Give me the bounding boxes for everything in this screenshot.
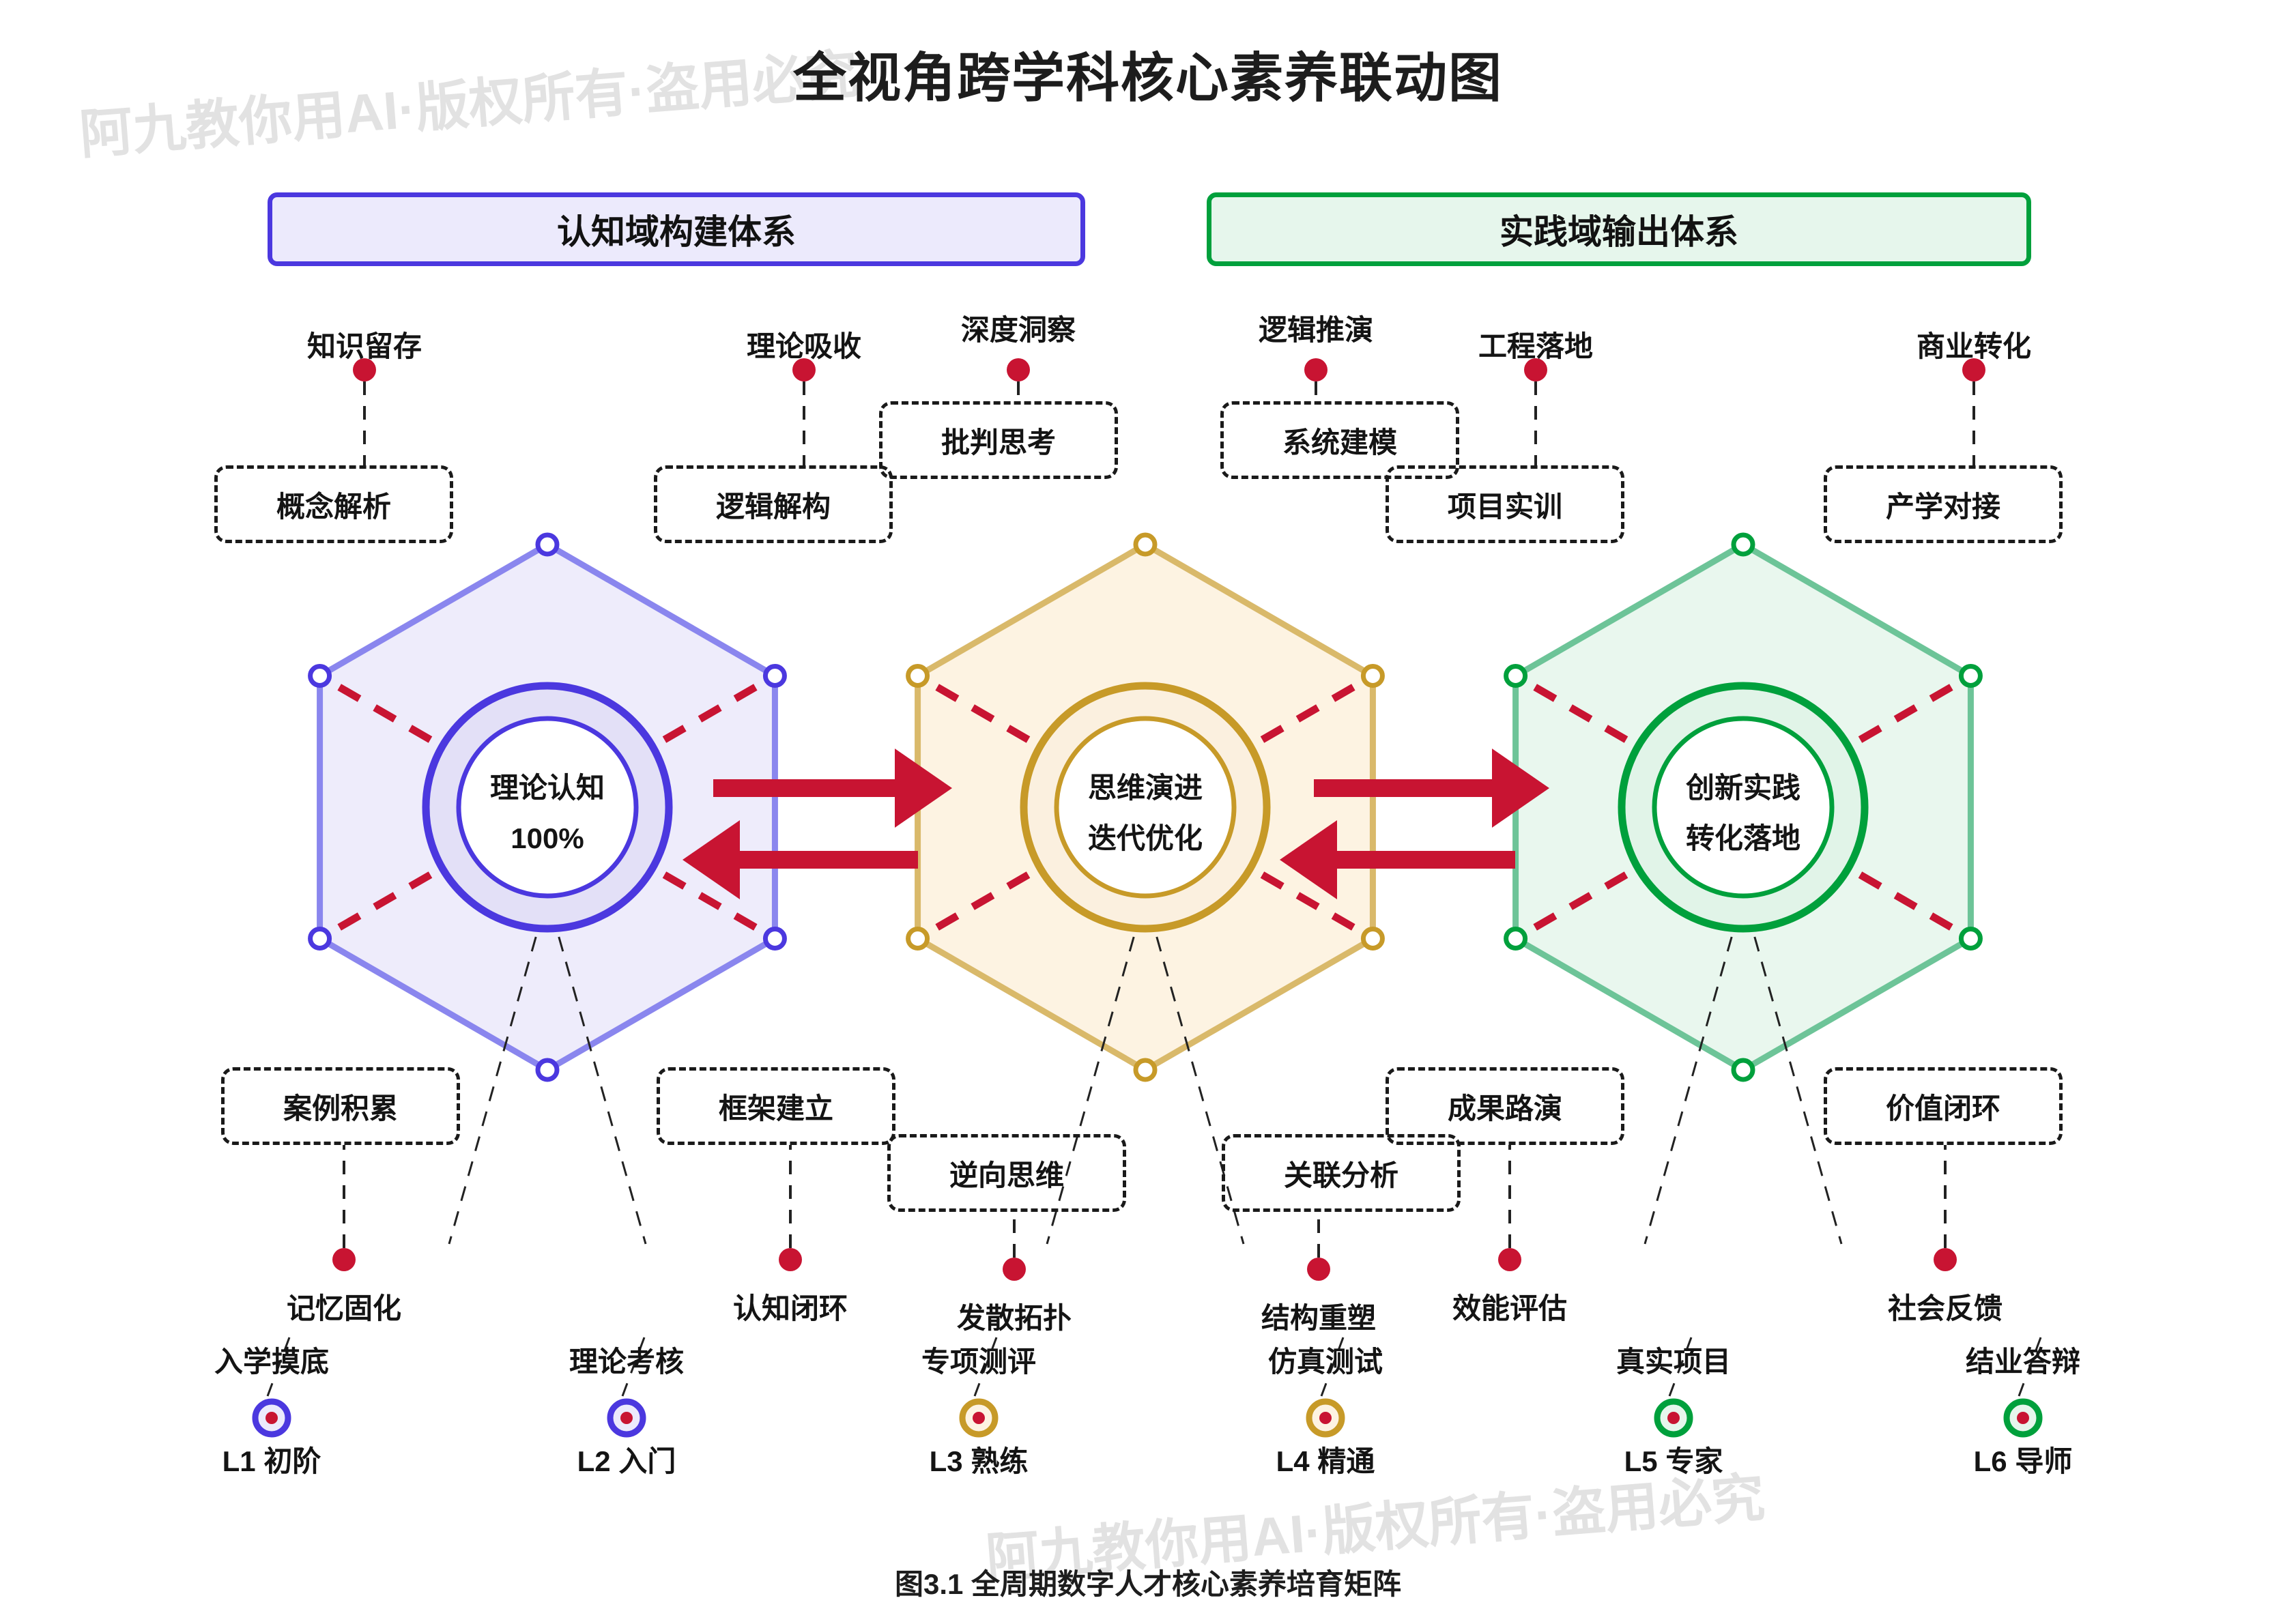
hex-vertex-node xyxy=(1961,667,1980,686)
core-label-line2-practice: 转化落地 xyxy=(1686,822,1800,854)
hex-vertex-node xyxy=(538,535,557,554)
level-marker-dot xyxy=(266,1412,278,1424)
level-name-label[interactable]: L1 初阶 xyxy=(223,1438,321,1480)
hex-vertex-node xyxy=(1734,1060,1753,1079)
hex-vertex-node xyxy=(908,929,928,948)
competency-box-label: 逆向思维 xyxy=(949,1152,1064,1194)
hex-vertex-node xyxy=(1961,929,1980,948)
competency-box-label: 概念解析 xyxy=(276,484,391,525)
pin-dot xyxy=(1934,1248,1957,1271)
pin-label: 效能评估 xyxy=(1452,1286,1567,1327)
pin-label: 工程落地 xyxy=(1478,323,1593,365)
hex-vertex-node xyxy=(908,667,928,686)
hex-vertex-node xyxy=(311,667,330,686)
hex-vertex-node xyxy=(1136,1060,1155,1079)
level-name-label[interactable]: L2 入门 xyxy=(577,1438,676,1480)
pin-dot xyxy=(779,1248,802,1271)
pin-label: 深度洞察 xyxy=(961,307,1076,349)
competency-box[interactable]: 成果路演 xyxy=(1386,1067,1624,1145)
level-marker-dot xyxy=(2017,1412,2029,1424)
core-label-line1-cognition: 理论认知 xyxy=(490,772,605,804)
pin-label: 理论吸收 xyxy=(747,323,861,365)
pin-label: 逻辑推演 xyxy=(1259,307,1373,349)
hex-vertex-node xyxy=(765,667,784,686)
pin-label: 记忆固化 xyxy=(287,1286,401,1327)
flow-arrow-right-1-shaft xyxy=(713,779,895,797)
hex-vertex-node xyxy=(765,929,784,948)
hex-vertex-node xyxy=(1363,929,1382,948)
competency-box-label: 成果路演 xyxy=(1448,1086,1562,1127)
competency-box-label: 关联分析 xyxy=(1284,1152,1398,1194)
hex-vertex-node xyxy=(1506,667,1525,686)
figure-caption: 图3.1 全周期数字人才核心素养培育矩阵 xyxy=(0,1561,2296,1603)
level-source-label: 理论考核 xyxy=(569,1339,684,1380)
competency-box[interactable]: 产学对接 xyxy=(1824,465,2063,543)
hexagon-network-svg: 理论认知100%思维演进迭代优化创新实践转化落地 xyxy=(0,0,2296,1624)
pin-dot xyxy=(1007,358,1030,381)
core-inner-ring-cognition xyxy=(459,719,636,896)
flow-arrow-right-2-shaft xyxy=(1314,779,1492,797)
pin-dot xyxy=(332,1248,356,1271)
competency-box[interactable]: 案例积累 xyxy=(221,1067,460,1145)
pin-label: 知识留存 xyxy=(307,323,422,365)
level-marker-dot xyxy=(1667,1412,1680,1424)
level-name-label[interactable]: L5 专家 xyxy=(1624,1438,1723,1480)
level-source-label: 入学摸底 xyxy=(214,1339,329,1380)
pin-label: 发散拓扑 xyxy=(957,1295,1072,1337)
core-label-line1-practice: 创新实践 xyxy=(1686,772,1800,804)
flow-arrow-left-1-shaft xyxy=(740,851,918,869)
competency-box[interactable]: 价值闭环 xyxy=(1824,1067,2063,1145)
competency-box[interactable]: 逻辑解构 xyxy=(654,465,893,543)
core-inner-ring-practice xyxy=(1654,719,1832,896)
competency-box-label: 价值闭环 xyxy=(1886,1086,2000,1127)
competency-box-label: 产学对接 xyxy=(1886,484,2000,525)
hex-vertex-node xyxy=(1363,667,1382,686)
level-marker-dot xyxy=(1319,1412,1332,1424)
competency-box-label: 案例积累 xyxy=(283,1086,398,1127)
level-source-label: 仿真测试 xyxy=(1268,1339,1383,1380)
level-source-label: 专项测评 xyxy=(921,1339,1036,1380)
hex-vertex-node xyxy=(1506,929,1525,948)
hex-vertex-node xyxy=(538,1060,557,1079)
competency-box[interactable]: 项目实训 xyxy=(1386,465,1624,543)
pin-label: 社会反馈 xyxy=(1888,1286,2003,1327)
flow-arrow-left-2-shaft xyxy=(1337,851,1515,869)
pin-dot xyxy=(1498,1248,1521,1271)
competency-box-label: 项目实训 xyxy=(1448,484,1562,525)
competency-box[interactable]: 框架建立 xyxy=(657,1067,895,1145)
hex-vertex-node xyxy=(1734,535,1753,554)
competency-box-label: 框架建立 xyxy=(719,1086,833,1127)
level-source-label: 结业答辩 xyxy=(1966,1339,2080,1380)
core-label-line2-thinking: 迭代优化 xyxy=(1088,822,1203,854)
competency-box-label: 系统建模 xyxy=(1282,420,1397,461)
competency-box[interactable]: 关联分析 xyxy=(1222,1134,1461,1212)
competency-box[interactable]: 逆向思维 xyxy=(887,1134,1126,1212)
pin-dot xyxy=(1304,358,1328,381)
pin-label: 结构重塑 xyxy=(1261,1295,1376,1337)
level-name-label[interactable]: L4 精通 xyxy=(1276,1438,1375,1480)
level-source-label: 真实项目 xyxy=(1616,1339,1731,1380)
core-inner-ring-thinking xyxy=(1057,719,1234,896)
hex-vertex-node xyxy=(1136,535,1155,554)
level-name-label[interactable]: L3 熟练 xyxy=(930,1438,1029,1480)
level-name-label[interactable]: L6 导师 xyxy=(1974,1438,2073,1480)
competency-box[interactable]: 批判思考 xyxy=(879,401,1118,479)
pin-dot xyxy=(1003,1258,1026,1281)
core-label-line1-thinking: 思维演进 xyxy=(1088,772,1203,804)
hex-vertex-node xyxy=(311,929,330,948)
competency-box-label: 逻辑解构 xyxy=(716,484,831,525)
competency-box-label: 批判思考 xyxy=(941,420,1056,461)
level-marker-dot xyxy=(620,1412,633,1424)
level-marker-dot xyxy=(973,1412,985,1424)
diagram-canvas: 阿九教你用AI·版权所有·盗用必究 阿九教你用AI·版权所有·盗用必究 全视角跨… xyxy=(0,0,2296,1624)
pin-dot xyxy=(1307,1258,1330,1281)
core-label-line2-cognition: 100% xyxy=(511,822,584,854)
pin-label: 商业转化 xyxy=(1917,323,2031,365)
pin-label: 认知闭环 xyxy=(733,1286,848,1327)
competency-box[interactable]: 概念解析 xyxy=(214,465,453,543)
